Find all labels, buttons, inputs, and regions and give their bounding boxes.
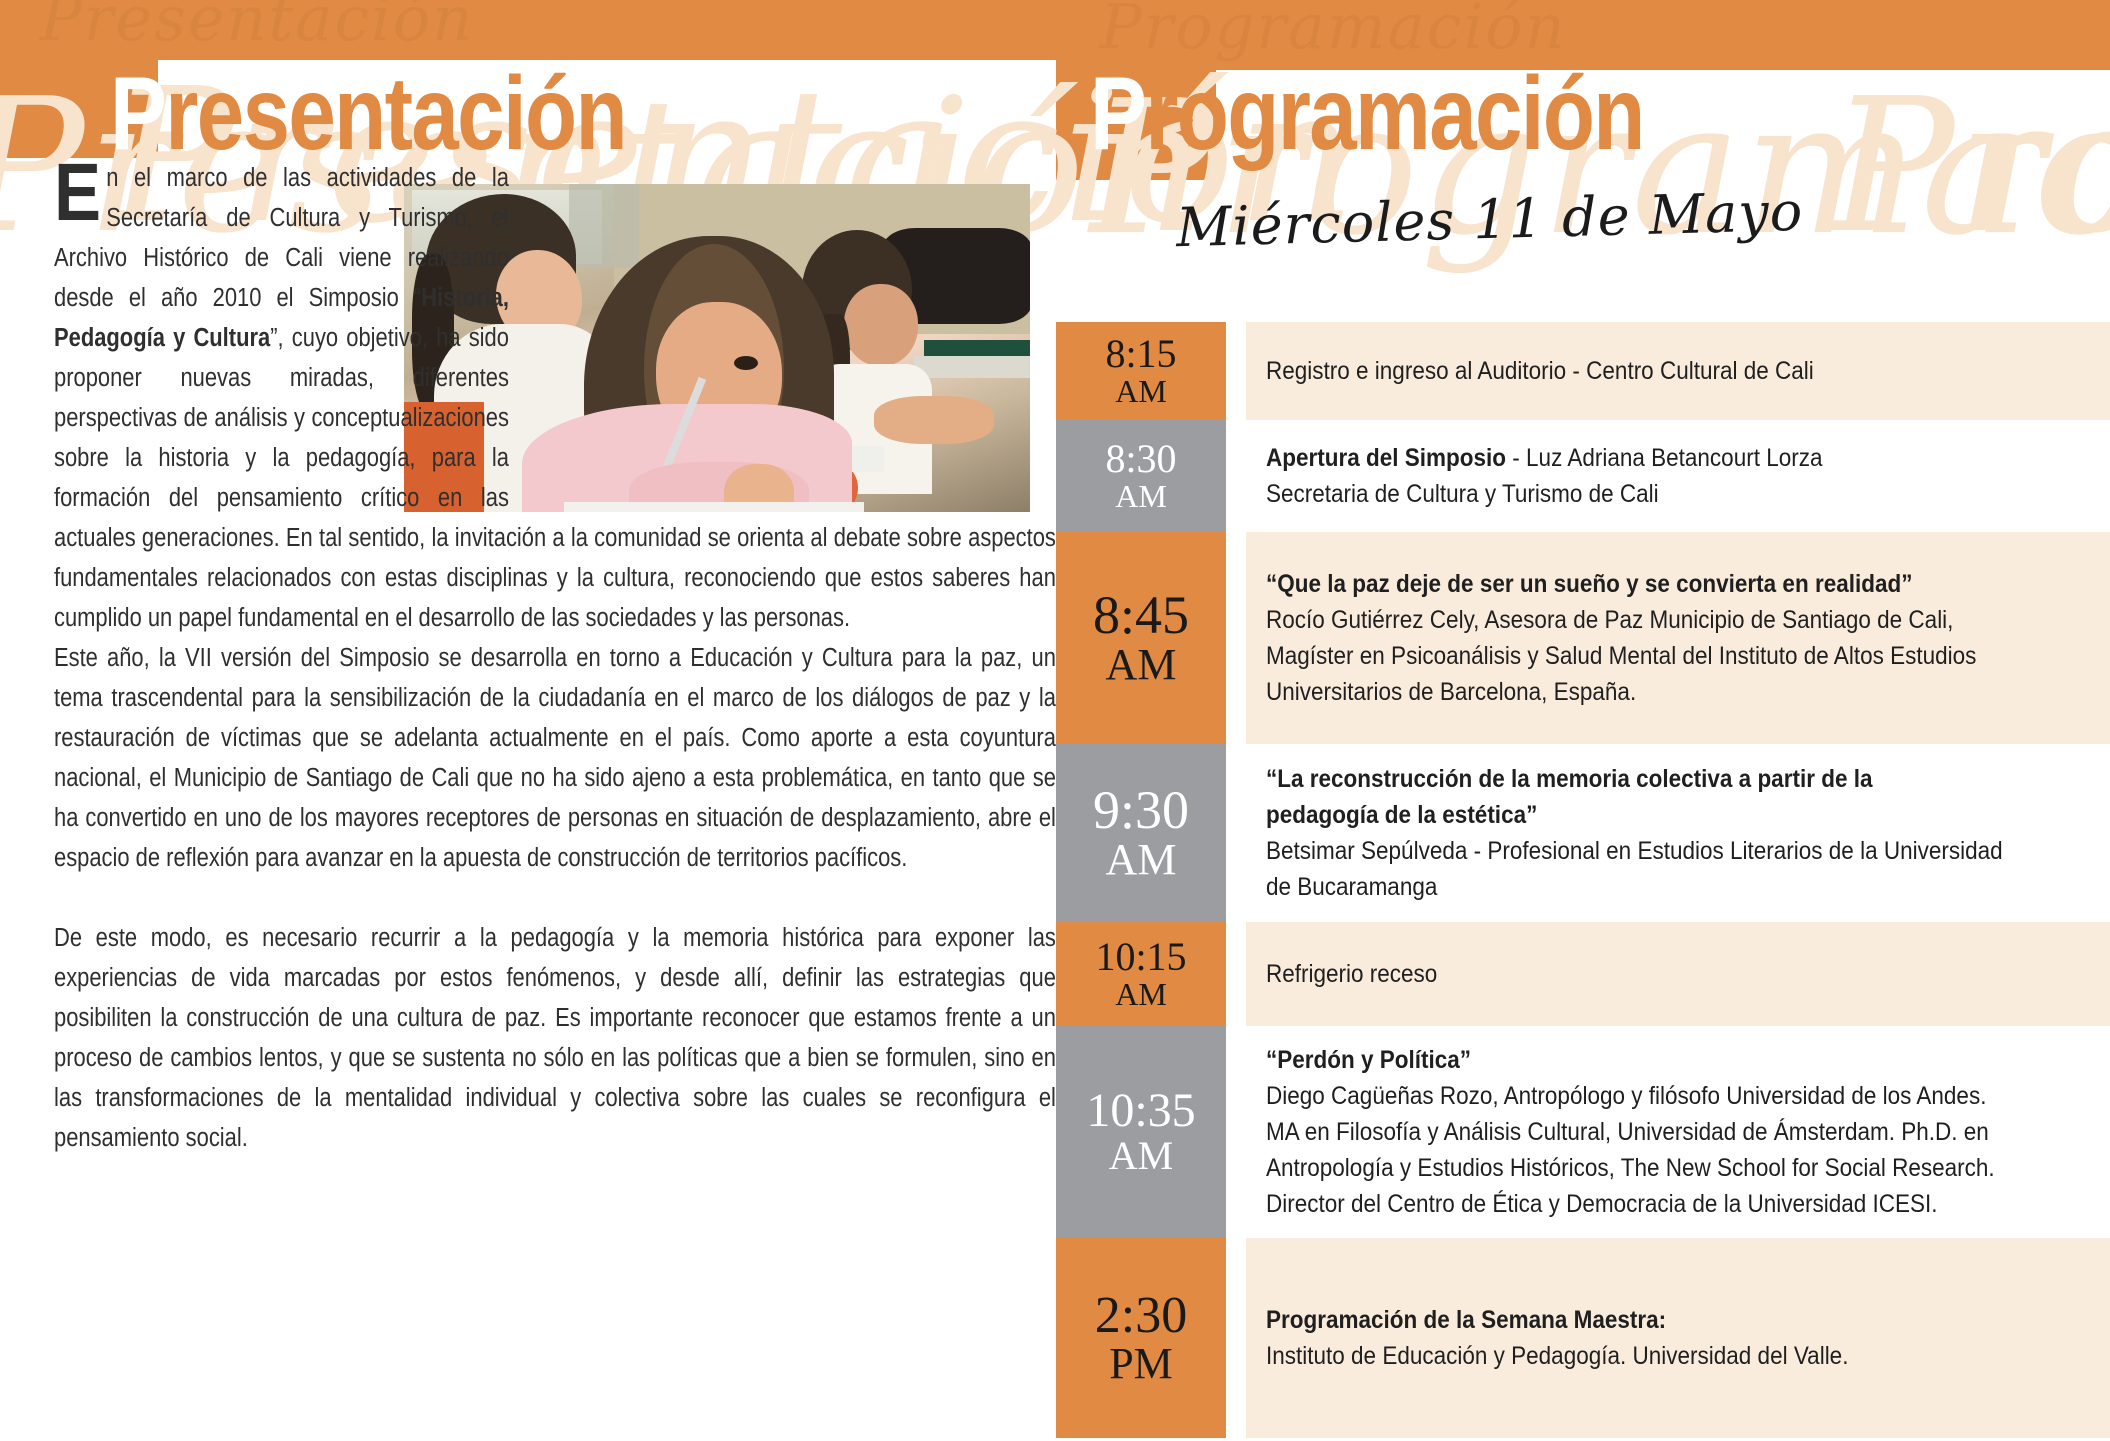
schedule-row: 10:35AM“Perdón y Política”Diego Cagüeñas… [1056, 1026, 2110, 1238]
schedule-line: Betsimar Sepúlveda - Profesional en Estu… [1266, 833, 2085, 869]
schedule-line: MA en Filosofía y Análisis Cultural, Uni… [1266, 1114, 2085, 1150]
title-dropcap-left: P [110, 56, 165, 172]
schedule-content-cell: Registro e ingreso al Auditorio - Centro… [1246, 322, 2110, 420]
schedule-time-cell: 8:45AM [1056, 532, 1226, 744]
schedule-period: AM [1115, 978, 1167, 1011]
schedule-content-cell: Programación de la Semana Maestra:Instit… [1246, 1238, 2110, 1438]
paragraph-dropcap: E [54, 158, 106, 224]
schedule-content-cell: Refrigerio receso [1246, 922, 2110, 1026]
schedule-period: AM [1106, 643, 1177, 688]
schedule-line: de Bucaramanga [1266, 869, 2085, 905]
schedule-line: Apertura del Simposio - Luz Adriana Beta… [1266, 440, 2085, 476]
schedule-line: Secretaria de Cultura y Turismo de Cali [1266, 476, 2085, 512]
schedule-line: Rocío Gutiérrez Cely, Asesora de Paz Mun… [1266, 602, 2085, 638]
schedule-time: 10:35 [1086, 1087, 1195, 1136]
schedule-row: 8:45AM“Que la paz deje de ser un sueño y… [1056, 532, 2110, 744]
schedule-row: 9:30AM“La reconstrucción de la memoria c… [1056, 744, 2110, 922]
schedule-time-cell: 2:30PM [1056, 1238, 1226, 1438]
schedule-time-cell: 8:15AM [1056, 322, 1226, 420]
schedule-time: 8:15 [1105, 334, 1176, 375]
schedule-gutter [1226, 1238, 1246, 1438]
schedule-line-bold: Apertura del Simposio [1266, 444, 1506, 472]
schedule-period: AM [1115, 480, 1167, 513]
schedule-time: 9:30 [1093, 783, 1189, 838]
schedule-time-cell: 8:30AM [1056, 420, 1226, 532]
page-title-presentacion: Presentación [110, 62, 626, 166]
programacion-panel: Miércoles 11 de Mayo 8:15AMRegistro e in… [1056, 0, 2110, 1441]
schedule-line: Universitarios de Barcelona, España. [1266, 674, 2085, 710]
schedule-content-cell: “Perdón y Política”Diego Cagüeñas Rozo, … [1246, 1026, 2110, 1238]
paragraph-2: Este año, la VII versión del Simposio se… [54, 638, 1056, 878]
schedule-line: “La reconstrucción de la memoria colecti… [1266, 761, 2085, 797]
schedule-period: PM [1109, 1342, 1173, 1387]
schedule-row: 10:15AMRefrigerio receso [1056, 922, 2110, 1026]
schedule-time: 8:30 [1105, 439, 1176, 480]
schedule-time-cell: 9:30AM [1056, 744, 1226, 922]
header-band-left [0, 0, 1056, 60]
schedule-gutter [1226, 922, 1246, 1026]
schedule-time: 2:30 [1095, 1289, 1187, 1342]
schedule-row: 8:30AMApertura del Simposio - Luz Adrian… [1056, 420, 2110, 532]
schedule-table: 8:15AMRegistro e ingreso al Auditorio - … [1056, 322, 2110, 1438]
schedule-gutter [1226, 532, 1246, 744]
schedule-line: Magíster en Psicoanálisis y Salud Mental… [1266, 638, 2085, 674]
schedule-period: AM [1106, 838, 1177, 883]
schedule-time-cell: 10:15AM [1056, 922, 1226, 1026]
schedule-line: Refrigerio receso [1266, 956, 2085, 992]
schedule-content-cell: Apertura del Simposio - Luz Adriana Beta… [1246, 420, 2110, 532]
schedule-period: AM [1109, 1136, 1173, 1177]
schedule-line: Diego Cagüeñas Rozo, Antropólogo y filós… [1266, 1078, 2085, 1114]
schedule-content-cell: “Que la paz deje de ser un sueño y se co… [1246, 532, 2110, 744]
schedule-line: pedagogía de la estética” [1266, 797, 2085, 833]
schedule-line: Programación de la Semana Maestra: [1266, 1302, 2085, 1338]
event-date: Miércoles 11 de Mayo [1175, 180, 1804, 259]
schedule-gutter [1226, 322, 1246, 420]
presentation-body: E n el marco de las actividades de la Se… [54, 158, 1056, 1158]
brochure-page: Presentación Programación Presentación P… [0, 0, 2110, 1441]
schedule-line: Director del Centro de Ética y Democraci… [1266, 1186, 2085, 1222]
schedule-gutter [1226, 1026, 1246, 1238]
schedule-period: AM [1115, 375, 1167, 408]
title-rest-left: resentación [165, 56, 626, 172]
schedule-line: Instituto de Educación y Pedagogía. Univ… [1266, 1338, 2085, 1374]
schedule-time: 10:15 [1095, 937, 1186, 978]
schedule-row: 8:15AMRegistro e ingreso al Auditorio - … [1056, 322, 2110, 420]
schedule-line: “Perdón y Política” [1266, 1042, 2085, 1078]
schedule-gutter [1226, 744, 1246, 922]
schedule-row: 2:30PMProgramación de la Semana Maestra:… [1056, 1238, 2110, 1438]
schedule-time-cell: 10:35AM [1056, 1026, 1226, 1238]
schedule-line: Registro e ingreso al Auditorio - Centro… [1266, 353, 2085, 389]
schedule-line: “Que la paz deje de ser un sueño y se co… [1266, 566, 2085, 602]
schedule-gutter [1226, 420, 1246, 532]
schedule-time: 8:45 [1093, 588, 1189, 643]
schedule-content-cell: “La reconstrucción de la memoria colecti… [1246, 744, 2110, 922]
paragraph-3: De este modo, es necesario recurrir a la… [54, 918, 1056, 1158]
schedule-line: Antropología y Estudios Históricos, The … [1266, 1150, 2085, 1186]
